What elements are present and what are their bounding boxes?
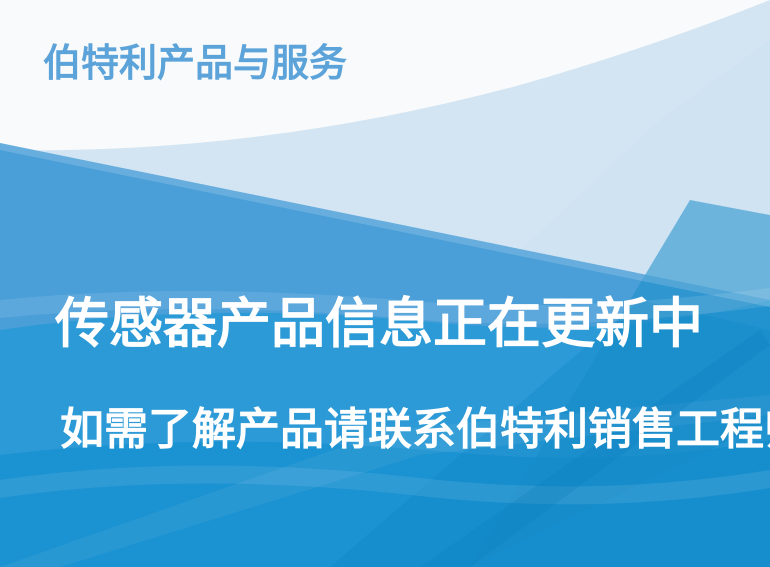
headline: 传感器产品信息正在更新中 (55, 297, 703, 351)
text-content-layer: 伯特利产品与服务 传感器产品信息正在更新中 如需了解产品请联系伯特利销售工程师 (0, 0, 770, 567)
brand-title: 伯特利产品与服务 (43, 45, 347, 83)
subheadline: 如需了解产品请联系伯特利销售工程师 (60, 408, 770, 452)
promo-banner: 伯特利产品与服务 传感器产品信息正在更新中 如需了解产品请联系伯特利销售工程师 (0, 0, 770, 567)
